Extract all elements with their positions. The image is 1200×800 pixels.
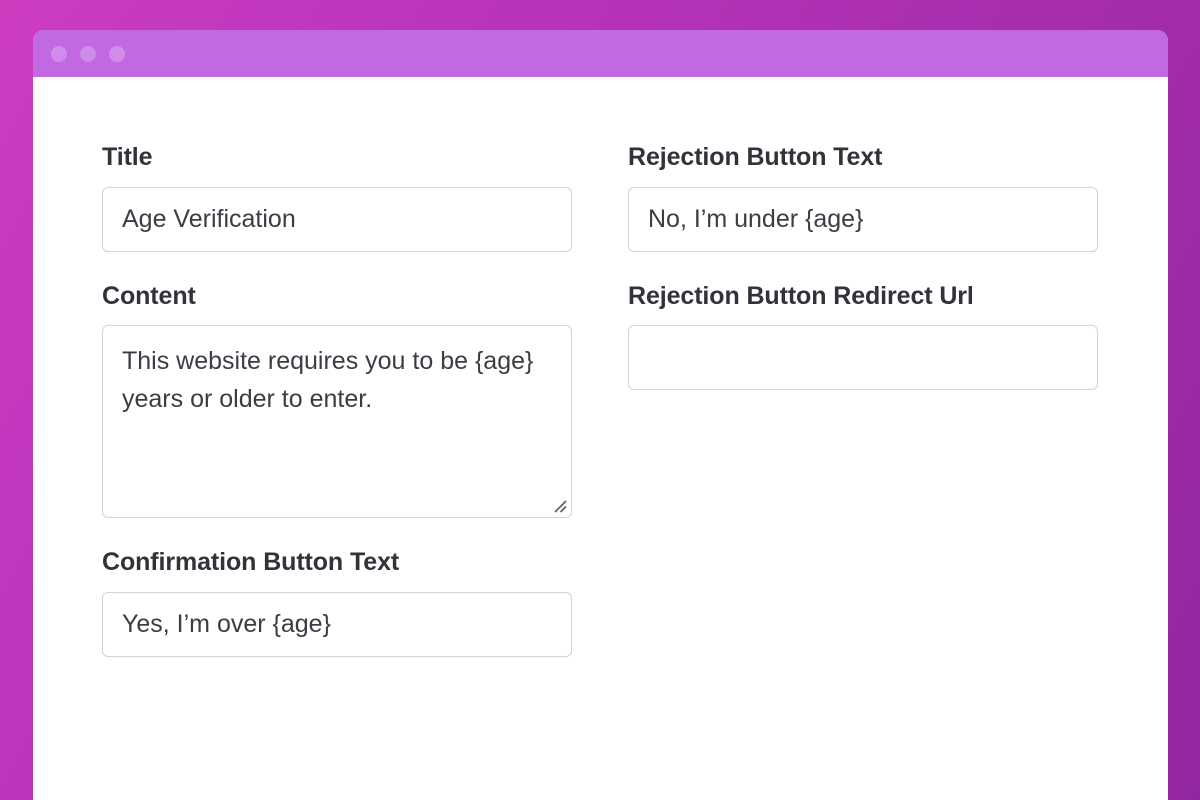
window-titlebar (33, 30, 1168, 77)
age-verification-form: Title Content This website requires you … (33, 144, 1168, 688)
window-dot-minimize-icon[interactable] (80, 46, 96, 62)
field-rejection-button-text: Rejection Button Text (628, 144, 1098, 252)
title-input[interactable] (102, 187, 572, 252)
field-content: Content This website requires you to be … (102, 283, 572, 519)
rejection-button-text-input[interactable] (628, 187, 1098, 252)
rejection-button-redirect-url-label: Rejection Button Redirect Url (628, 283, 1098, 311)
field-rejection-button-redirect-url: Rejection Button Redirect Url (628, 283, 1098, 391)
browser-window: Title Content This website requires you … (33, 30, 1168, 800)
form-left-column: Title Content This website requires you … (102, 144, 572, 688)
rejection-button-text-label: Rejection Button Text (628, 144, 1098, 172)
content-textarea-wrapper: This website requires you to be {age} ye… (102, 325, 572, 518)
field-title: Title (102, 144, 572, 252)
column-gutter (572, 144, 628, 688)
content-label: Content (102, 283, 572, 311)
window-dot-maximize-icon[interactable] (109, 46, 125, 62)
rejection-button-redirect-url-input[interactable] (628, 325, 1098, 390)
window-dot-close-icon[interactable] (51, 46, 67, 62)
confirmation-button-text-input[interactable] (102, 592, 572, 657)
title-label: Title (102, 144, 572, 172)
content-textarea[interactable]: This website requires you to be {age} ye… (102, 325, 572, 518)
field-confirmation-button-text: Confirmation Button Text (102, 549, 572, 657)
settings-page: Title Content This website requires you … (33, 77, 1168, 800)
confirmation-button-text-label: Confirmation Button Text (102, 549, 572, 577)
form-right-column: Rejection Button Text Rejection Button R… (628, 144, 1098, 688)
